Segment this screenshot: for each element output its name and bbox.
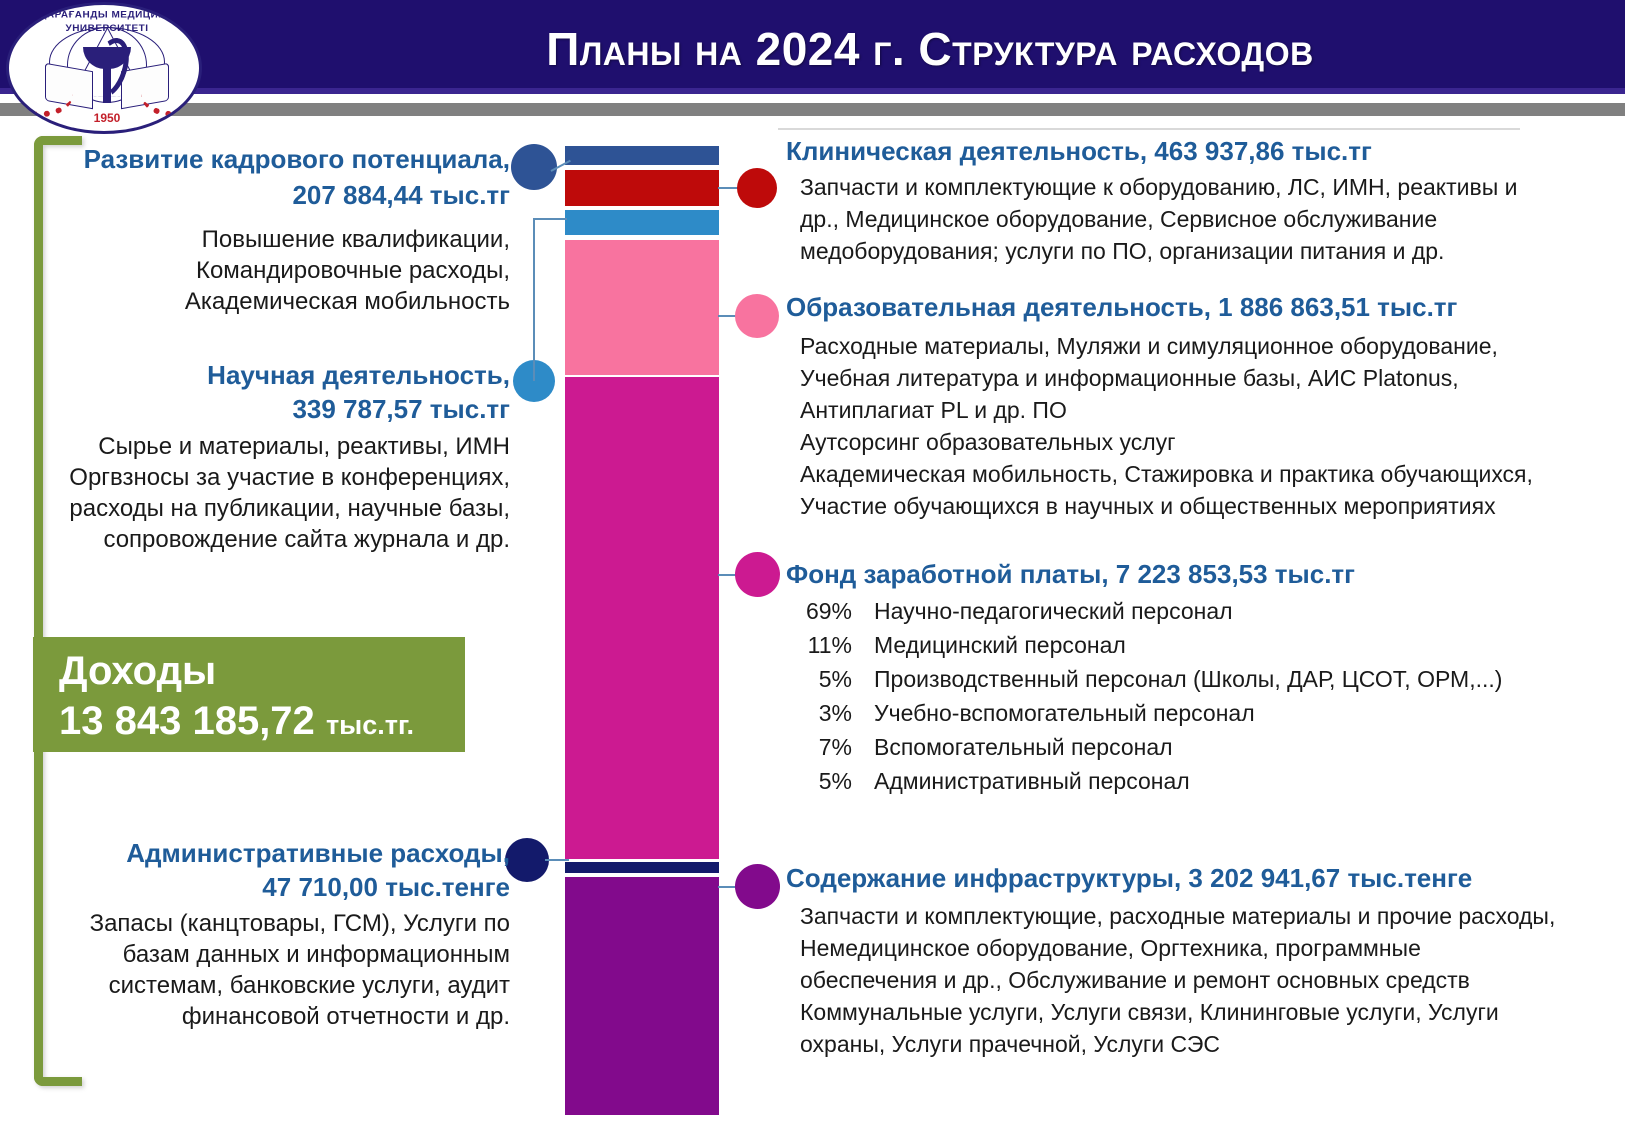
payroll-pct: 7% [790,730,852,764]
marker-dot-administrative-expenses[interactable] [505,838,549,882]
payroll-label: Административный персонал [874,764,1190,798]
payroll-label: Учебно-вспомогательный персонал [874,696,1255,730]
administrative-expenses-amount: 47 710,00 тыс.тенге [40,870,510,904]
bar-segment-administrative-expenses[interactable] [565,862,719,873]
logo-oval: ҚАРАҒАНДЫ МЕДИЦИНА УНИВЕРСИТЕТІ 1950 [6,2,202,134]
header-band-edge [0,88,1625,94]
clinical-activity-title: Клиническая деятельность, 463 937,86 тыс… [786,135,1372,167]
marker-dot-payroll-fund[interactable] [735,552,780,597]
scientific-activity-amount: 339 787,57 тыс.тг [40,392,510,426]
marker-dot-educational-activity[interactable] [735,294,779,338]
scientific-activity-title: Научная деятельность, [40,358,510,392]
bar-segment-hr-development[interactable] [565,146,719,165]
marker-dot-infrastructure[interactable] [735,864,780,909]
income-value: 13 843 185,72 [59,699,315,743]
income-value-row: 13 843 185,72 тыс.тг. [59,695,465,751]
list-item: 69% Научно-педагогический персонал [790,594,1580,628]
list-item: 3% Учебно-вспомогательный персонал [790,696,1580,730]
list-item: 7% Вспомогательный персонал [790,730,1580,764]
infrastructure-title: Содержание инфраструктуры, 3 202 941,67 … [786,862,1472,894]
scientific-activity-body: Сырье и материалы, реактивы, ИМН Оргвзно… [40,431,510,555]
bar-segment-infrastructure[interactable] [565,877,719,1115]
header-grey-rule [0,103,1625,116]
income-unit: тыс.тг. [326,710,414,740]
bar-segment-scientific-activity[interactable] [565,210,719,235]
payroll-pct: 69% [790,594,852,628]
income-box: Доходы 13 843 185,72 тыс.тг. [33,637,465,752]
educational-activity-title: Образовательная деятельность, 1 886 863,… [786,291,1457,323]
slide-root: Планы на 2024 г. Структура расходов ҚАРА… [0,0,1625,1125]
page-title: Планы на 2024 г. Структура расходов [250,10,1610,88]
marker-dot-hr-development[interactable] [511,144,557,190]
connector-scientific-horizontal [533,218,567,220]
bar-segment-clinical-activity[interactable] [565,170,719,206]
connector-administrative [545,859,569,861]
payroll-label: Научно-педагогический персонал [874,594,1233,628]
logo-year: 1950 [9,111,202,125]
income-label: Доходы [59,647,465,695]
university-logo: ҚАРАҒАНДЫ МЕДИЦИНА УНИВЕРСИТЕТІ 1950 [6,2,202,134]
infrastructure-body: Запчасти и комплектующие, расходные мате… [800,900,1610,1060]
list-item: 11% Медицинский персонал [790,628,1580,662]
hr-development-body: Повышение квалификации, Командировочные … [40,224,510,317]
payroll-fund-title: Фонд заработной платы, 7 223 853,53 тыс.… [786,558,1355,590]
list-item: 5% Административный персонал [790,764,1580,798]
administrative-expenses-body: Запасы (канцтовары, ГСМ), Услуги по база… [40,908,510,1032]
payroll-pct: 3% [790,696,852,730]
bar-segment-payroll-fund[interactable] [565,377,719,859]
list-item: 5% Производственный персонал (Школы, ДАР… [790,662,1580,696]
payroll-label: Производственный персонал (Школы, ДАР, Ц… [874,662,1502,696]
clinical-activity-body: Запчасти и комплектующие к оборудованию,… [800,171,1600,267]
hr-development-amount: 207 884,44 тыс.тг [40,178,510,212]
payroll-breakdown-list: 69% Научно-педагогический персонал 11% М… [790,594,1580,798]
payroll-pct: 5% [790,764,852,798]
payroll-label: Вспомогательный персонал [874,730,1173,764]
educational-activity-body: Расходные материалы, Муляжи и симуляцион… [800,330,1600,522]
connector-scientific-vertical [533,218,535,381]
payroll-pct: 11% [790,628,852,662]
bar-segment-educational-activity[interactable] [565,240,719,375]
administrative-expenses-title: Административные расходы, [40,836,510,870]
right-top-rule [778,128,1520,130]
hr-development-title: Развитие кадрового потенциала, [40,142,510,176]
payroll-label: Медицинский персонал [874,628,1126,662]
expense-stacked-bar [565,146,719,1115]
marker-dot-clinical-activity[interactable] [737,168,777,208]
payroll-pct: 5% [790,662,852,696]
